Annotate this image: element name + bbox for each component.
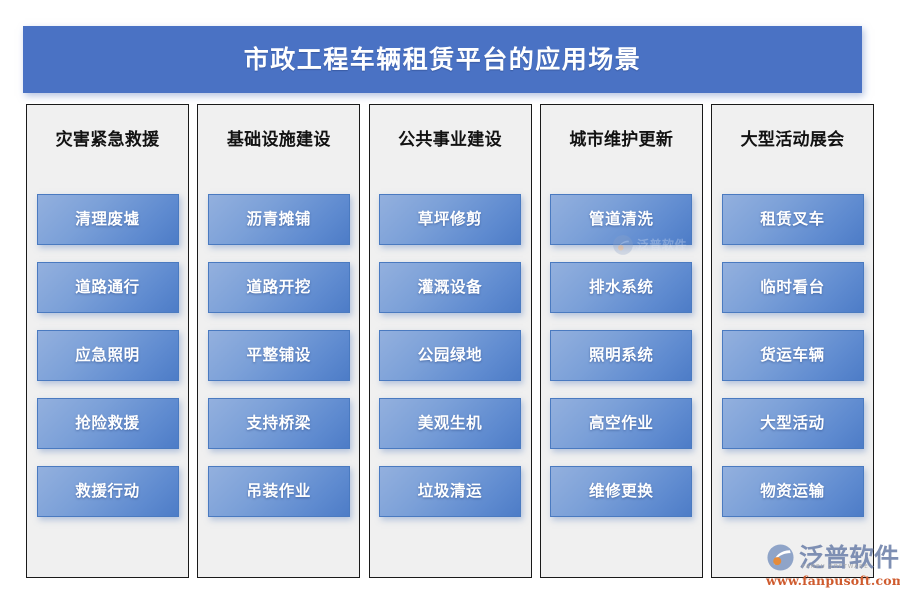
scenario-item-label: 道路通行: [75, 280, 139, 296]
scenario-item-label: 吊装作业: [247, 484, 311, 500]
fanpu-swoosh-icon: [766, 543, 795, 572]
scenario-item[interactable]: 高空作业: [550, 398, 692, 449]
scenario-item-label: 道路开挖: [247, 280, 311, 296]
category-column: 基础设施建设 沥青摊铺 道路开挖 平整铺设 支持桥梁 吊装作业: [197, 104, 360, 578]
scenario-item-label: 高空作业: [589, 416, 653, 432]
scenario-item-label: 抢险救援: [75, 416, 139, 432]
scenario-item-label: 美观生机: [418, 416, 482, 432]
scenario-item[interactable]: 临时看台: [722, 262, 864, 313]
scenario-item[interactable]: 美观生机: [379, 398, 521, 449]
scenario-item[interactable]: 租赁叉车: [722, 194, 864, 245]
category-item-list: 管道清洗 排水系统 照明系统 高空作业 维修更换: [541, 194, 702, 517]
scenario-item-label: 应急照明: [75, 348, 139, 364]
scenario-item[interactable]: 垃圾清运: [379, 466, 521, 517]
category-header: 基础设施建设: [227, 132, 331, 149]
scenario-item[interactable]: 沥青摊铺: [208, 194, 350, 245]
scenario-item[interactable]: 道路通行: [37, 262, 179, 313]
category-column: 公共事业建设 草坪修剪 灌溉设备 公园绿地 美观生机 垃圾清运: [369, 104, 532, 578]
scenario-item-label: 临时看台: [760, 280, 824, 296]
scenario-item[interactable]: 草坪修剪: [379, 194, 521, 245]
scenario-item-label: 租赁叉车: [760, 212, 824, 228]
scenario-item[interactable]: 清理废墟: [37, 194, 179, 245]
scenario-item-label: 管道清洗: [589, 212, 653, 228]
brand-url: www.fanpusoft.com: [766, 575, 896, 588]
category-item-list: 清理废墟 道路通行 应急照明 抢险救援 救援行动: [27, 194, 188, 517]
scenario-item[interactable]: 灌溉设备: [379, 262, 521, 313]
scenario-item[interactable]: 公园绿地: [379, 330, 521, 381]
brand-name-en: FANPU SOFTWARE: [802, 565, 869, 571]
category-item-list: 租赁叉车 临时看台 货运车辆 大型活动 物资运输: [712, 194, 873, 517]
scenario-item-label: 货运车辆: [760, 348, 824, 364]
scenario-item[interactable]: 排水系统: [550, 262, 692, 313]
scenario-item[interactable]: 大型活动: [722, 398, 864, 449]
category-item-list: 草坪修剪 灌溉设备 公园绿地 美观生机 垃圾清运: [370, 194, 531, 517]
scenario-item-label: 排水系统: [589, 280, 653, 296]
scenario-item[interactable]: 支持桥梁: [208, 398, 350, 449]
scenario-item[interactable]: 应急照明: [37, 330, 179, 381]
scenario-item[interactable]: 货运车辆: [722, 330, 864, 381]
scenario-item-label: 公园绿地: [418, 348, 482, 364]
category-column: 灾害紧急救援 清理废墟 道路通行 应急照明 抢险救援 救援行动: [26, 104, 189, 578]
scenario-item-label: 大型活动: [760, 416, 824, 432]
scenario-item-label: 清理废墟: [75, 212, 139, 228]
category-columns: 灾害紧急救援 清理废墟 道路通行 应急照明 抢险救援 救援行动: [26, 104, 874, 578]
scenario-item-label: 物资运输: [760, 484, 824, 500]
scenario-item[interactable]: 救援行动: [37, 466, 179, 517]
page-title-banner: 市政工程车辆租赁平台的应用场景: [23, 26, 862, 93]
scenario-item[interactable]: 管道清洗: [550, 194, 692, 245]
scenario-item-label: 支持桥梁: [247, 416, 311, 432]
scenario-item[interactable]: 吊装作业: [208, 466, 350, 517]
scenario-item[interactable]: 照明系统: [550, 330, 692, 381]
category-column: 城市维护更新 管道清洗 排水系统 照明系统 高空作业 维修更换: [540, 104, 703, 578]
category-header: 灾害紧急救援: [56, 132, 160, 149]
scenario-item-label: 救援行动: [75, 484, 139, 500]
category-header: 城市维护更新: [569, 132, 673, 149]
scenario-item[interactable]: 物资运输: [722, 466, 864, 517]
scenario-item[interactable]: 维修更换: [550, 466, 692, 517]
page-title: 市政工程车辆租赁平台的应用场景: [244, 47, 642, 72]
scenario-item[interactable]: 道路开挖: [208, 262, 350, 313]
infographic-root: 市政工程车辆租赁平台的应用场景 灾害紧急救援 清理废墟 道路通行 应急照明 抢险…: [0, 0, 900, 600]
scenario-item[interactable]: 抢险救援: [37, 398, 179, 449]
scenario-item-label: 沥青摊铺: [247, 212, 311, 228]
scenario-item-label: 垃圾清运: [418, 484, 482, 500]
scenario-item-label: 平整铺设: [247, 348, 311, 364]
category-header: 公共事业建设: [398, 132, 502, 149]
scenario-item-label: 维修更换: [589, 484, 653, 500]
scenario-item-label: 灌溉设备: [418, 280, 482, 296]
scenario-item-label: 照明系统: [589, 348, 653, 364]
brand-logo: 泛普软件 FANPU SOFTWARE www.fanpusoft.com: [766, 541, 896, 593]
category-item-list: 沥青摊铺 道路开挖 平整铺设 支持桥梁 吊装作业: [198, 194, 359, 517]
scenario-item-label: 草坪修剪: [418, 212, 482, 228]
scenario-item[interactable]: 平整铺设: [208, 330, 350, 381]
category-header: 大型活动展会: [741, 132, 845, 149]
category-column: 大型活动展会 租赁叉车 临时看台 货运车辆 大型活动 物资运输: [711, 104, 874, 578]
